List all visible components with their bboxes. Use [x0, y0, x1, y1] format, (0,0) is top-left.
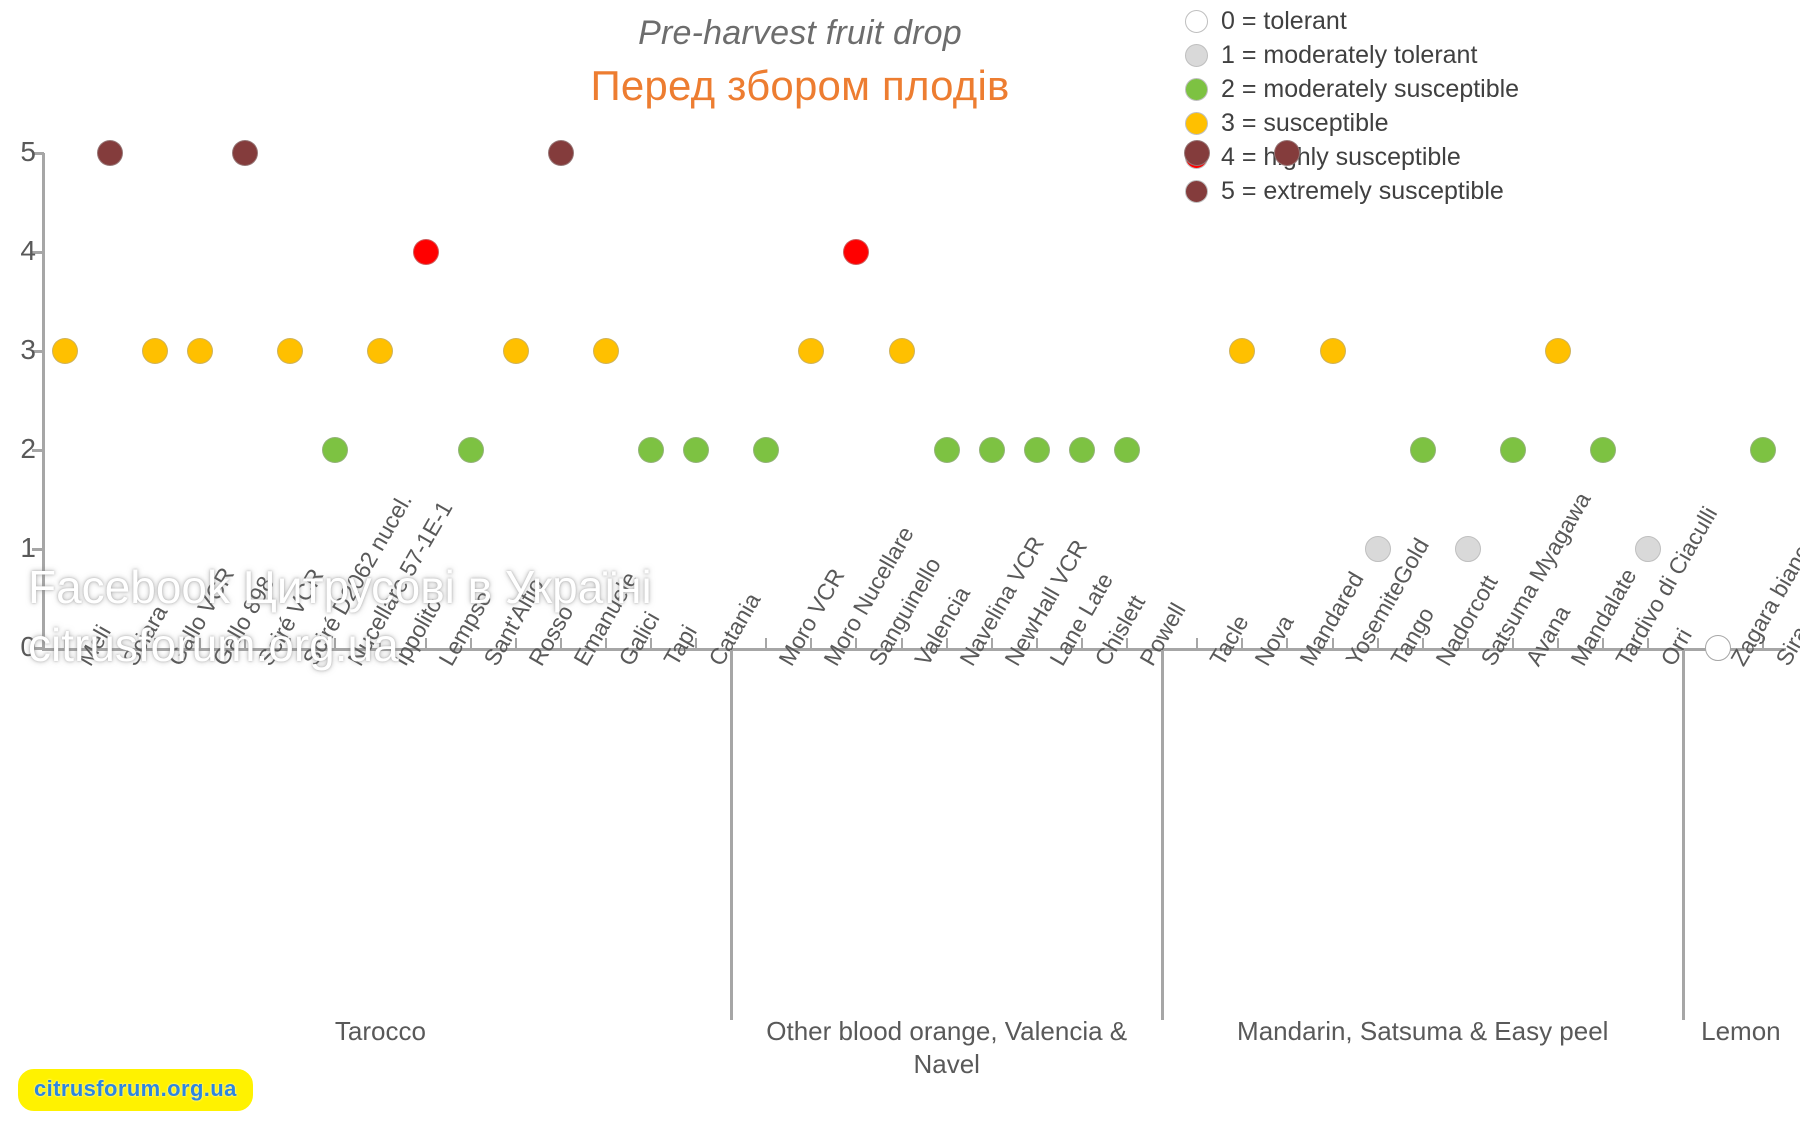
data-point: [232, 140, 258, 166]
y-tick-label: 2: [0, 435, 36, 463]
y-tick-label: 1: [0, 534, 36, 562]
data-point: [548, 140, 574, 166]
data-point: [979, 437, 1005, 463]
data-point: [683, 437, 709, 463]
y-tick-label: 3: [0, 336, 36, 364]
data-point: [889, 338, 915, 364]
data-point: [638, 437, 664, 463]
y-axis-line: [42, 153, 45, 648]
x-tick-mark: [765, 638, 767, 649]
data-point: [1590, 437, 1616, 463]
data-point: [798, 338, 824, 364]
group-separator: [730, 650, 733, 1020]
x-axis-label: Galici: [615, 608, 664, 669]
x-axis-label: Tacle: [1206, 611, 1253, 669]
y-tick-label: 4: [0, 237, 36, 265]
x-axis-label: Catania: [705, 589, 765, 669]
page-title-ukrainian: Перед збором плодів: [300, 62, 1300, 110]
group-label-3: Lemon: [1696, 1015, 1786, 1048]
x-tick-mark: [1196, 638, 1198, 649]
data-point: [1500, 437, 1526, 463]
legend-swatch-icon-2: [1185, 78, 1208, 101]
data-point: [97, 140, 123, 166]
legend-item-label: 0 = tolerant: [1221, 7, 1347, 36]
data-point: [503, 338, 529, 364]
data-point: [1184, 140, 1210, 166]
x-tick-mark: [64, 638, 66, 649]
group-separator: [1161, 650, 1164, 1020]
data-point: [1750, 437, 1776, 463]
legend-item-0: 0 = tolerant: [1185, 4, 1785, 38]
group-label-2: Mandarin, Satsuma & Easy peel: [1175, 1015, 1671, 1048]
data-point: [322, 437, 348, 463]
x-axis-label: Orri: [1657, 625, 1696, 670]
legend-item-label: 1 = moderately tolerant: [1221, 41, 1477, 70]
data-point: [1024, 437, 1050, 463]
plot-area: 012345 MeliSciaraGallo VCRGallo 898Sciré…: [0, 120, 1800, 1123]
site-badge: citrusforum.org.ua: [18, 1069, 253, 1111]
x-axis-label: Meli: [74, 621, 115, 669]
x-axis-label: Sciara: [119, 602, 172, 670]
data-point: [1229, 338, 1255, 364]
data-point: [142, 338, 168, 364]
data-point: [1365, 536, 1391, 562]
data-point: [52, 338, 78, 364]
legend-swatch-icon-1: [1185, 44, 1208, 67]
group-separator: [1682, 650, 1685, 1020]
data-point: [1114, 437, 1140, 463]
group-label-1: Other blood orange, Valencia & Navel: [744, 1015, 1150, 1080]
y-tick-label: 0: [0, 633, 36, 661]
data-point: [187, 338, 213, 364]
data-point: [367, 338, 393, 364]
data-point: [934, 437, 960, 463]
data-point: [1320, 338, 1346, 364]
x-axis-label: Nova: [1251, 611, 1298, 669]
data-point: [277, 338, 303, 364]
y-tick-label: 5: [0, 138, 36, 166]
data-point: [1455, 536, 1481, 562]
data-point: [1069, 437, 1095, 463]
page-title-english: Pre-harvest fruit drop: [300, 14, 1300, 53]
data-point: [413, 239, 439, 265]
data-point: [1545, 338, 1571, 364]
chart-canvas: Pre-harvest fruit drop Перед збором плод…: [0, 0, 1800, 1123]
data-point: [1635, 536, 1661, 562]
group-label-0: Tarocco: [42, 1015, 719, 1048]
legend-item-2: 2 = moderately susceptible: [1185, 72, 1785, 106]
data-point: [1410, 437, 1436, 463]
data-point: [753, 437, 779, 463]
data-point: [1274, 140, 1300, 166]
data-point: [458, 437, 484, 463]
legend-swatch-icon-0: [1185, 10, 1208, 33]
legend-item-1: 1 = moderately tolerant: [1185, 38, 1785, 72]
data-point: [593, 338, 619, 364]
data-point: [843, 239, 869, 265]
legend-item-label: 2 = moderately susceptible: [1221, 75, 1519, 104]
